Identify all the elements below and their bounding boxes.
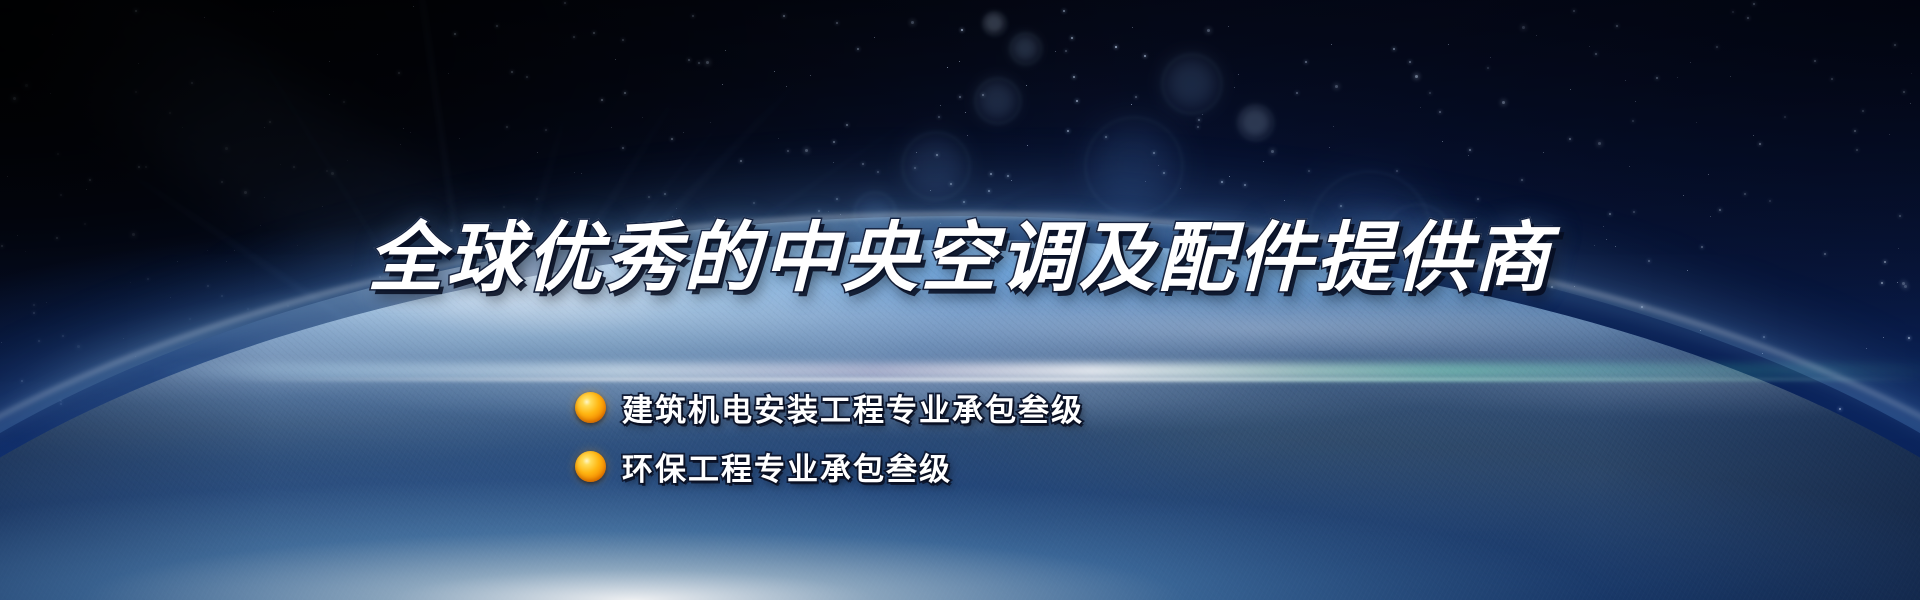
list-item: 建筑机电安装工程专业承包叁级 xyxy=(575,385,1084,430)
hero-banner: 全球优秀的中央空调及配件提供商 建筑机电安装工程专业承包叁级 环保工程专业承包叁… xyxy=(0,0,1920,600)
banner-headline-text: 全球优秀的中央空调及配件提供商 xyxy=(368,216,1553,301)
banner-bullet-list: 建筑机电安装工程专业承包叁级 环保工程专业承包叁级 xyxy=(575,385,1084,489)
banner-headline: 全球优秀的中央空调及配件提供商 xyxy=(0,196,1920,306)
banner-content: 全球优秀的中央空调及配件提供商 建筑机电安装工程专业承包叁级 环保工程专业承包叁… xyxy=(0,0,1920,600)
orange-dot-icon xyxy=(575,451,606,482)
orange-dot-icon xyxy=(575,392,606,423)
list-item: 环保工程专业承包叁级 xyxy=(575,444,1084,489)
bullet-label: 建筑机电安装工程专业承包叁级 xyxy=(622,385,1084,430)
bullet-label: 环保工程专业承包叁级 xyxy=(622,444,952,489)
